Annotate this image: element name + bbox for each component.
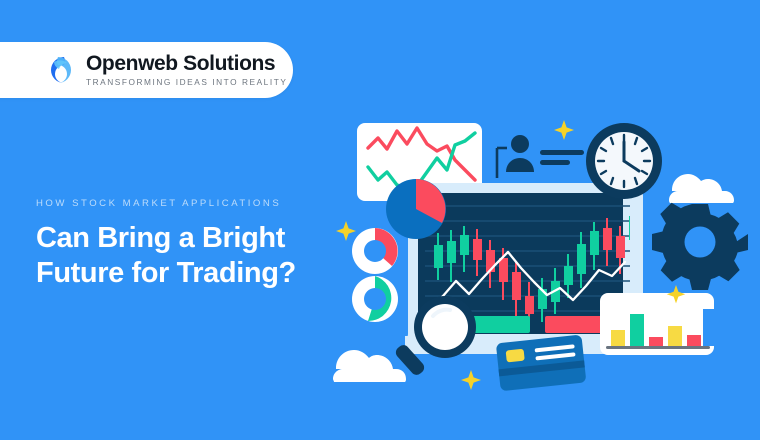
gear-icon bbox=[652, 203, 748, 290]
bar-chart-card bbox=[600, 293, 717, 355]
bar-3 bbox=[649, 337, 663, 346]
avatar-text-line-2 bbox=[540, 160, 570, 165]
bar-1 bbox=[611, 330, 625, 346]
headline-line-1: Can Bring a Bright bbox=[36, 222, 285, 254]
bar-4 bbox=[668, 326, 682, 346]
headline-block: HOW STOCK MARKET APPLICATIONS Can Bring … bbox=[36, 198, 356, 292]
logo-tagline: TRANSFORMING IDEAS INTO REALITY bbox=[86, 78, 287, 86]
page-title: Can Bring a Bright Future for Trading? bbox=[36, 221, 356, 292]
poster-canvas: Openweb Solutions TRANSFORMING IDEAS INT… bbox=[0, 0, 760, 440]
headline-line-2: Future for Trading? bbox=[36, 257, 296, 289]
bar-2 bbox=[630, 314, 644, 346]
bar-baseline bbox=[606, 346, 710, 349]
donut-chart-red bbox=[352, 228, 398, 274]
eyebrow-text: HOW STOCK MARKET APPLICATIONS bbox=[36, 198, 356, 209]
donut-chart-green bbox=[352, 276, 398, 322]
logo-company-name: Openweb Solutions bbox=[86, 53, 287, 75]
logo-badge[interactable]: Openweb Solutions TRANSFORMING IDEAS INT… bbox=[0, 42, 293, 98]
pie-chart bbox=[386, 179, 446, 239]
credit-card-icon bbox=[496, 335, 587, 392]
avatar-text-line-1 bbox=[540, 150, 584, 155]
card-chip bbox=[506, 349, 525, 363]
analog-clock bbox=[586, 123, 662, 199]
openweb-swirl-logo bbox=[42, 53, 76, 87]
bar-6 bbox=[703, 309, 717, 346]
user-avatar-icon bbox=[506, 135, 584, 172]
bar-5 bbox=[687, 335, 701, 346]
